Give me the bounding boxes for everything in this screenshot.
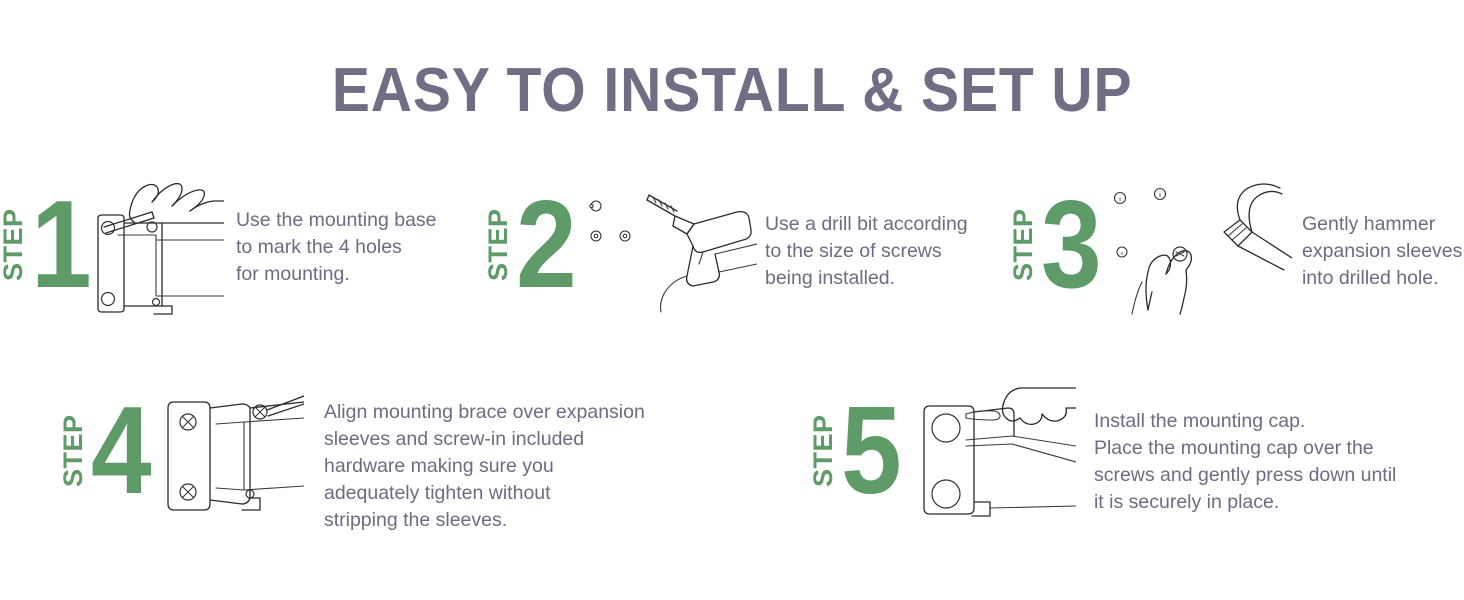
step-5: STEP 5 I	[780, 386, 1460, 534]
step-4-text: Align mounting brace over expansion slee…	[324, 399, 645, 534]
steps-row-bottom: STEP 4	[60, 386, 1464, 534]
step-3-marker: STEP 3	[1010, 180, 1106, 310]
step-5-label: STEP	[810, 395, 837, 507]
step-1: STEP 1	[0, 180, 480, 315]
step-4-label: STEP	[60, 395, 87, 507]
step-3-illustration: x x x	[1112, 180, 1292, 315]
step-1-marker: STEP 1	[0, 180, 96, 310]
step-1-illustration	[94, 180, 224, 315]
step-5-number: 5	[841, 395, 898, 507]
step-5-illustration	[916, 386, 1076, 521]
step-4-illustration	[164, 386, 304, 516]
step-2: STEP 2	[480, 180, 1000, 315]
page-title: EASY TO INSTALL & SET UP	[332, 58, 1133, 124]
step-5-marker: STEP 5	[810, 386, 906, 516]
step-3-number: 3	[1041, 189, 1098, 301]
svg-text:x: x	[1121, 251, 1124, 257]
step-1-number: 1	[31, 189, 88, 301]
step-2-illustration	[587, 180, 757, 315]
step-2-marker: STEP 2	[485, 180, 581, 310]
step-1-label: STEP	[0, 189, 27, 301]
step-5-text: Install the mounting cap. Place the moun…	[1094, 408, 1396, 516]
step-4-number: 4	[91, 395, 148, 507]
step-4: STEP 4	[60, 386, 780, 534]
step-4-marker: STEP 4	[60, 386, 156, 516]
step-2-number: 2	[516, 189, 573, 301]
step-3: STEP 3 x x x	[1000, 180, 1460, 315]
step-1-text: Use the mounting base to mark the 4 hole…	[236, 207, 437, 288]
step-3-label: STEP	[1010, 189, 1037, 301]
step-3-text: Gently hammer expansion sleeves into dri…	[1302, 211, 1462, 292]
svg-text:x: x	[1118, 197, 1121, 203]
step-2-text: Use a drill bit according to the size of…	[765, 211, 968, 292]
svg-text:x: x	[1158, 193, 1161, 199]
page-title-container: EASY TO INSTALL & SET UP	[0, 58, 1464, 124]
steps-row-top: STEP 1	[0, 180, 1464, 315]
step-2-label: STEP	[485, 189, 512, 301]
